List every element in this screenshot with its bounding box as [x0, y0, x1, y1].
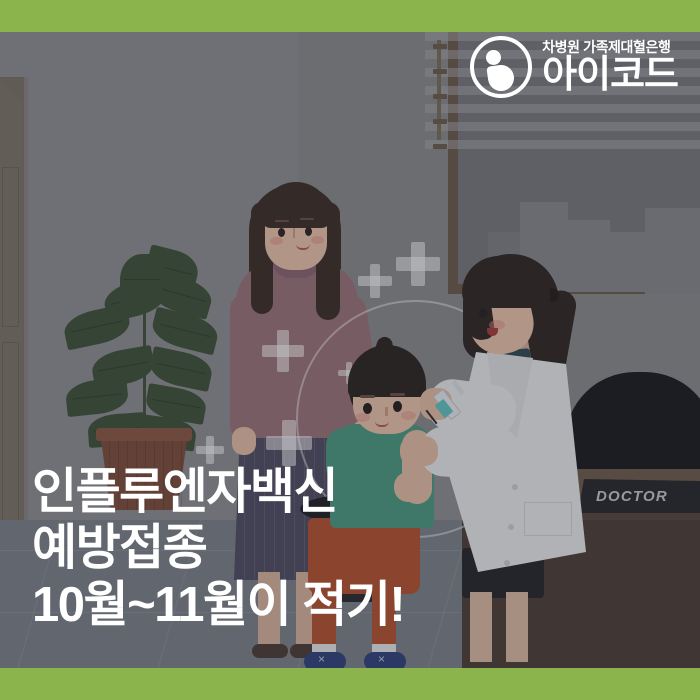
boy-cheek	[355, 413, 370, 422]
decorative-cross	[266, 420, 312, 466]
blind-knot	[433, 119, 447, 124]
mother-shoe	[252, 644, 288, 658]
brand-logo: 차병원 가족제대혈은행 아이코드	[470, 36, 678, 98]
doctor-leg	[506, 592, 528, 662]
boy-eye	[393, 401, 402, 412]
top-brand-bar	[0, 0, 700, 32]
mother-eyebrow	[275, 220, 289, 222]
door-jamb	[24, 77, 28, 532]
boy-nose	[385, 407, 388, 416]
building-silhouette	[607, 232, 647, 292]
door-face	[0, 77, 22, 532]
doctor-leg	[470, 592, 492, 662]
doctor-nameplate: DOCTOR	[578, 479, 700, 513]
mother-eye	[278, 228, 285, 237]
blind-knot	[433, 44, 447, 49]
logo-text-block: 차병원 가족제대혈은행 아이코드	[542, 40, 678, 93]
headline-line-2: 예방접종	[32, 520, 404, 577]
boy-eyebrow	[360, 395, 375, 398]
building-silhouette	[565, 220, 610, 292]
headline-line-1: 인플루엔자백신	[32, 464, 404, 521]
blind-knot	[433, 94, 447, 99]
blind-slat	[425, 122, 700, 131]
mother-eyebrow	[300, 218, 314, 220]
doctor-hand-support	[400, 436, 438, 466]
plant-leaf	[120, 254, 164, 306]
mother-nose	[293, 228, 295, 238]
decorative-cross	[396, 242, 440, 286]
mother-arm-left	[230, 294, 260, 440]
mother-cheek	[311, 236, 324, 244]
coat-button	[504, 560, 510, 566]
blind-slat	[425, 104, 700, 113]
headline-block: 인플루엔자백신 예방접종 10월~11월이 적기!	[32, 464, 404, 634]
circle-droplet-icon	[470, 36, 532, 98]
doctor-eye	[479, 308, 487, 318]
blind-slat	[425, 140, 700, 149]
boy-shoe	[364, 652, 406, 668]
blind-cord	[437, 40, 441, 140]
logo-title: 아이코드	[542, 56, 678, 94]
headline-line-3: 10월~11월이 적기!	[32, 577, 404, 634]
boy-cheek	[401, 411, 416, 420]
mother-hand-left	[232, 427, 256, 455]
decorative-cross	[358, 264, 392, 298]
promo-card: DOCTOR	[0, 0, 700, 700]
mother-eye	[305, 227, 312, 236]
building-silhouette	[645, 208, 700, 294]
nameplate-label: DOCTOR	[578, 488, 668, 505]
door-panel-upper	[2, 167, 19, 327]
decorative-cross	[196, 436, 224, 464]
boy-shoe	[304, 652, 346, 668]
blind-knot	[433, 144, 447, 149]
decorative-cross	[262, 330, 304, 372]
boy-eyebrow	[390, 393, 405, 396]
doctor-coat-pocket	[524, 502, 572, 536]
bottom-brand-bar	[0, 668, 700, 700]
coat-button	[508, 524, 514, 530]
mother-cheek	[270, 237, 283, 245]
plant-pot-rim	[96, 428, 192, 441]
coat-button	[512, 484, 518, 490]
blind-knot	[433, 69, 447, 74]
droplet-dot	[486, 50, 501, 65]
droplet-shape	[486, 63, 515, 92]
